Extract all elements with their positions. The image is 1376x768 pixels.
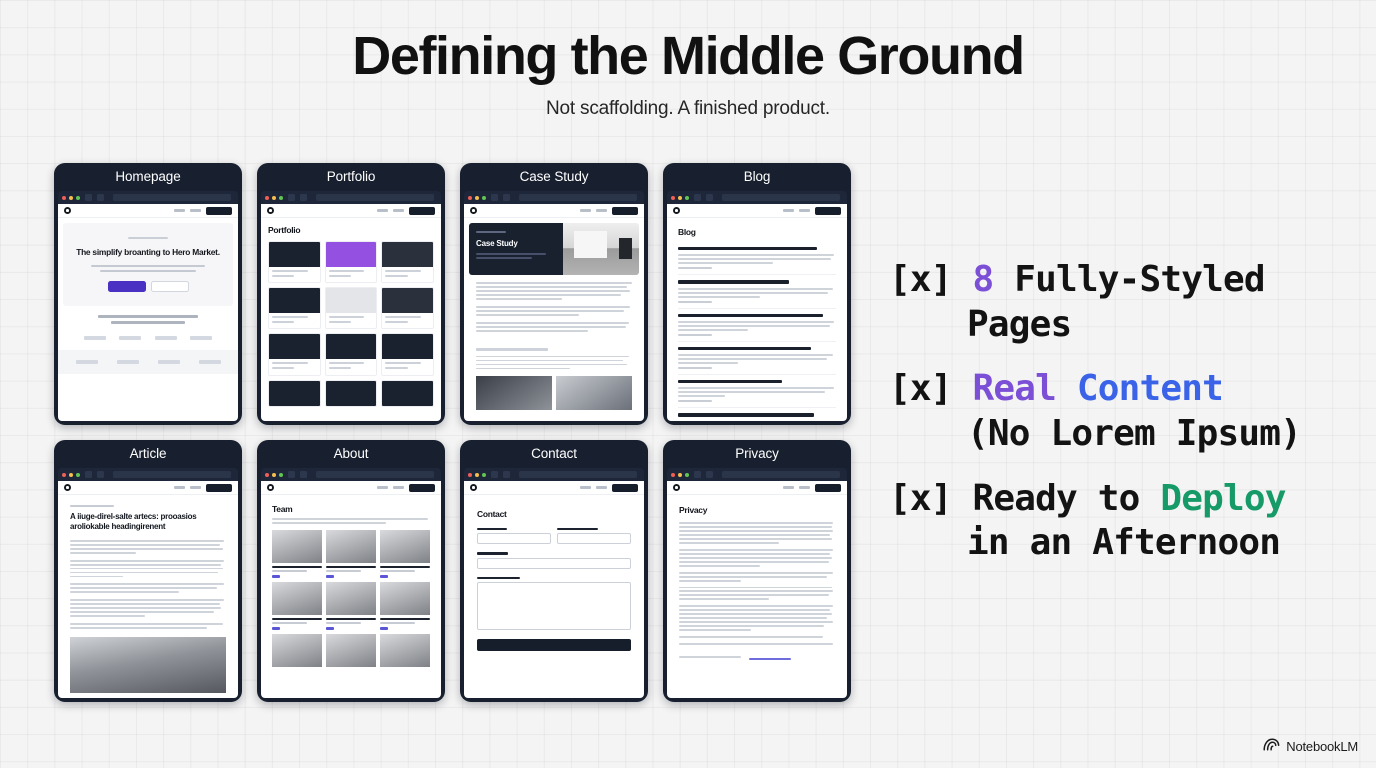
address-bar xyxy=(113,194,231,201)
post-excerpt-line xyxy=(678,329,748,331)
site-nav xyxy=(58,204,238,218)
browser-chrome xyxy=(58,468,238,481)
page-viewport: The simplify broanting to Hero Market. xyxy=(58,204,238,421)
body-line xyxy=(679,590,833,592)
case-study-body xyxy=(464,280,644,410)
post-title-line xyxy=(678,380,782,383)
member-role-line xyxy=(272,570,307,572)
member-role-line xyxy=(326,622,361,624)
body-line xyxy=(679,522,833,524)
portfolio-tile xyxy=(325,287,378,329)
body-line xyxy=(679,656,741,658)
portfolio-body: Portfolio xyxy=(261,218,441,414)
feature-checklist: [x] 8 Fully-Styled Pages [x] Real Conten… xyxy=(889,258,1349,566)
input-last-name[interactable] xyxy=(557,533,631,544)
hero-subtext-line xyxy=(476,253,546,255)
member-role-line xyxy=(326,570,361,572)
tile-thumbnail xyxy=(269,288,320,313)
back-button-icon xyxy=(288,194,295,201)
portfolio-tile xyxy=(381,287,434,329)
blog-post-item xyxy=(678,375,836,408)
member-social-link xyxy=(272,575,280,577)
checklist-text xyxy=(952,259,973,300)
tile-thumbnail xyxy=(382,242,433,267)
tile-meta xyxy=(269,359,320,374)
portfolio-tile xyxy=(268,380,321,407)
card-title: Case Study xyxy=(464,163,644,191)
tile-thumbnail xyxy=(269,381,320,406)
nav-cta-button xyxy=(612,484,638,492)
blog-post-item xyxy=(678,408,836,421)
member-avatar xyxy=(272,530,322,563)
input-email[interactable] xyxy=(477,558,631,569)
team-member xyxy=(272,530,322,578)
maximize-dot-icon xyxy=(482,473,486,477)
tile-thumbnail xyxy=(326,334,377,359)
team-grid xyxy=(272,530,430,667)
address-bar xyxy=(519,194,637,201)
subheading-line xyxy=(476,348,548,351)
privacy-paragraph xyxy=(679,605,835,631)
hero-eyebrow xyxy=(476,231,506,233)
nav-links xyxy=(580,484,638,492)
case-study-hero: Case Study xyxy=(469,223,639,275)
tile-thumbnail xyxy=(326,381,377,406)
body-line xyxy=(476,326,626,328)
page-card-article[interactable]: Article A iiuge-direl-salte artecs: proo… xyxy=(54,440,242,702)
blog-post-item xyxy=(678,309,836,342)
blog-post-item xyxy=(678,275,836,308)
address-bar xyxy=(722,194,840,201)
privacy-paragraph xyxy=(679,643,835,665)
tile-title-line xyxy=(385,362,421,364)
name-row xyxy=(477,528,631,544)
body-line xyxy=(476,368,570,370)
minimize-dot-icon xyxy=(678,196,682,200)
tile-meta xyxy=(382,313,433,328)
body-line xyxy=(679,538,832,540)
body-line xyxy=(476,294,621,296)
privacy-paragraph xyxy=(679,572,835,582)
checklist-item-pages: [x] 8 Fully-Styled Pages xyxy=(889,258,1349,347)
hero-subtext-line xyxy=(91,265,205,267)
article-heading: A iiuge-direl-salte artecs: prooasios ar… xyxy=(70,512,226,533)
member-name-line xyxy=(272,566,322,569)
checklist-space xyxy=(1056,368,1077,409)
page-card-case-study[interactable]: Case Study Case Study xyxy=(460,163,648,425)
body-line xyxy=(679,643,833,645)
forward-button-icon xyxy=(97,194,104,201)
portfolio-tile xyxy=(268,333,321,375)
body-line xyxy=(70,627,207,629)
tile-title-line xyxy=(272,270,308,272)
submit-button[interactable] xyxy=(477,639,631,651)
checklist-line-2: in an Afternoon xyxy=(889,521,1349,566)
real-accent: Real xyxy=(973,368,1057,409)
body-line xyxy=(679,613,832,615)
body-line xyxy=(70,564,221,566)
post-title-line xyxy=(678,247,817,250)
tile-title-line xyxy=(272,362,308,364)
checkbox-icon: [x] xyxy=(889,478,952,519)
body-line xyxy=(70,568,223,570)
team-member xyxy=(380,582,430,630)
member-avatar xyxy=(326,634,376,667)
nav-links xyxy=(783,207,841,215)
forward-button-icon xyxy=(300,471,307,478)
maximize-dot-icon xyxy=(685,196,689,200)
body-line xyxy=(70,552,136,554)
portfolio-heading: Portfolio xyxy=(268,225,434,235)
privacy-heading: Privacy xyxy=(679,505,835,515)
blog-post-item xyxy=(678,342,836,375)
body-line xyxy=(679,636,823,638)
minimize-dot-icon xyxy=(678,473,682,477)
tile-sub-line xyxy=(329,321,351,323)
portfolio-tile xyxy=(325,333,378,375)
close-dot-icon xyxy=(468,473,472,477)
features-section xyxy=(58,311,238,340)
nav-link xyxy=(393,486,404,489)
nav-links xyxy=(783,484,841,492)
body-line xyxy=(679,605,833,607)
hero-secondary-button xyxy=(151,281,189,292)
card-title: Blog xyxy=(667,163,847,191)
body-line xyxy=(70,548,223,550)
body-line xyxy=(679,561,829,563)
body-line xyxy=(679,549,833,551)
minimize-dot-icon xyxy=(475,473,479,477)
nav-links xyxy=(580,207,638,215)
body-line xyxy=(476,356,629,358)
post-excerpt-line xyxy=(678,254,834,256)
portfolio-tile xyxy=(325,380,378,407)
address-bar xyxy=(722,471,840,478)
body-line xyxy=(70,576,123,578)
content-accent: Content xyxy=(1077,368,1223,409)
nav-cta-button xyxy=(409,207,435,215)
member-role-line xyxy=(380,570,415,572)
address-bar xyxy=(316,471,434,478)
card-title: Contact xyxy=(464,440,644,468)
field-label-name xyxy=(477,528,507,530)
nav-link xyxy=(174,209,185,212)
portfolio-tile xyxy=(268,287,321,329)
body-line xyxy=(70,587,217,589)
member-social-link xyxy=(326,627,334,629)
team-member xyxy=(272,582,322,630)
member-name-line xyxy=(380,566,430,569)
nav-link xyxy=(580,486,591,489)
field-group-message xyxy=(477,577,631,630)
privacy-paragraph xyxy=(679,636,835,638)
input-message[interactable] xyxy=(477,582,631,630)
privacy-paragraph xyxy=(679,587,835,601)
member-name-line xyxy=(272,618,322,621)
tile-title-line xyxy=(385,316,421,318)
privacy-body: Privacy xyxy=(667,495,847,680)
member-avatar xyxy=(272,634,322,667)
back-button-icon xyxy=(85,471,92,478)
minimize-dot-icon xyxy=(69,473,73,477)
body-line xyxy=(476,314,579,316)
hero-buttons xyxy=(71,281,225,292)
member-social-link xyxy=(380,575,388,577)
post-excerpt-line xyxy=(678,262,773,264)
hero-primary-button xyxy=(108,281,146,292)
forward-button-icon xyxy=(97,471,104,478)
body-line xyxy=(70,603,220,605)
nav-links xyxy=(174,484,232,492)
tile-thumbnail xyxy=(326,242,377,267)
nav-cta-button xyxy=(815,207,841,215)
back-button-icon xyxy=(288,471,295,478)
nav-cta-button xyxy=(409,484,435,492)
maximize-dot-icon xyxy=(76,473,80,477)
tile-sub-line xyxy=(272,321,294,323)
blog-post-item xyxy=(678,242,836,275)
tile-meta xyxy=(382,267,433,282)
checklist-space xyxy=(952,368,973,409)
browser-chrome xyxy=(261,191,441,204)
tile-sub-line xyxy=(272,367,294,369)
site-logo-icon xyxy=(673,207,680,214)
field-label-last-name xyxy=(557,528,598,530)
minimize-dot-icon xyxy=(475,196,479,200)
nav-link xyxy=(190,209,201,212)
tile-sub-line xyxy=(385,367,407,369)
contact-heading: Contact xyxy=(477,509,631,519)
post-excerpt-line xyxy=(678,391,825,393)
site-nav xyxy=(667,204,847,218)
close-dot-icon xyxy=(62,473,66,477)
minimize-dot-icon xyxy=(69,196,73,200)
forward-button-icon xyxy=(503,194,510,201)
member-avatar xyxy=(326,530,376,563)
member-name-line xyxy=(326,618,376,621)
page-card-about[interactable]: About Team xyxy=(257,440,445,702)
article-image xyxy=(70,637,226,693)
body-line xyxy=(679,629,751,631)
tile-sub-line xyxy=(329,275,351,277)
page-viewport: Privacy xyxy=(667,481,847,698)
site-logo-icon xyxy=(673,484,680,491)
portfolio-tile xyxy=(381,333,434,375)
nav-cta-button xyxy=(612,207,638,215)
deploy-accent: Deploy xyxy=(1160,478,1285,519)
checklist-item-deploy: [x] Ready to Deploy in an Afternoon xyxy=(889,477,1349,566)
tile-thumbnail xyxy=(269,242,320,267)
post-date xyxy=(678,367,712,369)
team-member xyxy=(272,634,322,667)
body-line xyxy=(679,580,741,582)
tile-meta xyxy=(269,267,320,282)
body-line xyxy=(679,617,827,619)
post-excerpt-line xyxy=(678,354,833,356)
nav-link xyxy=(783,209,794,212)
nav-link xyxy=(377,209,388,212)
card-title: About xyxy=(261,440,441,468)
nav-link xyxy=(799,486,810,489)
portfolio-tile xyxy=(268,241,321,283)
logo-placeholder xyxy=(190,336,212,340)
nav-cta-button xyxy=(815,484,841,492)
body-line xyxy=(70,591,179,593)
body-line xyxy=(272,522,386,524)
nav-link xyxy=(580,209,591,212)
page-viewport: A iiuge-direl-salte artecs: prooasios ar… xyxy=(58,481,238,698)
nav-links xyxy=(174,207,232,215)
checklist-text: Fully-Styled xyxy=(993,259,1264,300)
body-line xyxy=(679,609,830,611)
case-study-subheading xyxy=(476,339,632,345)
body-line xyxy=(476,330,588,332)
checklist-line-1: [x] Real Content xyxy=(889,367,1349,412)
body-line xyxy=(70,544,220,546)
body-line xyxy=(476,306,630,308)
hero-photo xyxy=(563,223,639,275)
post-excerpt-line xyxy=(678,387,834,389)
post-excerpt-line xyxy=(678,325,830,327)
body-line xyxy=(70,607,221,609)
team-heading: Team xyxy=(272,504,430,514)
post-excerpt-line xyxy=(678,296,760,298)
browser-chrome xyxy=(464,468,644,481)
page-card-portfolio[interactable]: Portfolio Portfolio xyxy=(257,163,445,425)
logo-placeholder xyxy=(84,336,106,340)
hero-eyebrow xyxy=(128,237,168,239)
hero-subtext-line xyxy=(476,257,532,259)
slide-header: Defining the Middle Ground Not scaffoldi… xyxy=(0,0,1376,120)
body-line xyxy=(70,615,145,617)
address-bar xyxy=(519,471,637,478)
page-subtitle: Not scaffolding. A finished product. xyxy=(0,98,1376,120)
post-excerpt-line xyxy=(678,362,738,364)
body-line xyxy=(70,583,224,585)
page-viewport: Case Study xyxy=(464,204,644,421)
nav-links xyxy=(377,207,435,215)
post-title-line xyxy=(678,347,811,350)
notebooklm-watermark: NotebookLM xyxy=(1263,738,1358,754)
body-line xyxy=(476,282,632,284)
hero-subtext-line xyxy=(100,270,195,272)
body-line xyxy=(679,625,824,627)
body-line xyxy=(679,557,832,559)
checkbox-icon: [x] xyxy=(889,259,952,300)
maximize-dot-icon xyxy=(685,473,689,477)
tile-title-line xyxy=(329,362,365,364)
field-label-message xyxy=(477,577,520,579)
site-logo-icon xyxy=(470,484,477,491)
tile-title-line xyxy=(329,316,365,318)
body-line xyxy=(70,599,224,601)
team-member xyxy=(326,634,376,667)
section-heading-line xyxy=(98,315,198,318)
site-logo-icon xyxy=(470,207,477,214)
member-avatar xyxy=(380,530,430,563)
body-line xyxy=(476,364,627,366)
post-excerpt-line xyxy=(678,358,827,360)
tile-sub-line xyxy=(272,275,294,277)
body-line xyxy=(679,542,779,544)
body-line xyxy=(679,526,832,528)
member-name-line xyxy=(326,566,376,569)
post-title-line xyxy=(678,280,789,283)
body-line xyxy=(679,565,760,567)
nav-link xyxy=(596,209,607,212)
nav-link xyxy=(799,209,810,212)
post-date xyxy=(678,301,712,303)
member-avatar xyxy=(326,582,376,615)
input-name[interactable] xyxy=(477,533,551,544)
body-line xyxy=(476,298,562,300)
nav-link xyxy=(190,486,201,489)
member-name-line xyxy=(380,618,430,621)
body-line xyxy=(679,572,833,574)
site-nav xyxy=(667,481,847,495)
body-line xyxy=(70,623,223,625)
back-button-icon xyxy=(694,194,701,201)
team-body: Team xyxy=(261,495,441,676)
footer-item xyxy=(76,360,98,364)
tile-thumbnail xyxy=(382,288,433,313)
case-study-image xyxy=(556,376,632,410)
body-line xyxy=(476,322,629,324)
card-title: Homepage xyxy=(58,163,238,191)
body-line xyxy=(679,594,829,596)
page-card-contact[interactable]: Contact Contact xyxy=(460,440,648,702)
nav-cta-button xyxy=(206,484,232,492)
post-excerpt-line xyxy=(678,395,725,397)
body-line xyxy=(476,286,627,288)
checklist-line-2: Pages xyxy=(889,303,1349,348)
footer-item xyxy=(158,360,180,364)
section-heading-line xyxy=(111,321,186,324)
page-viewport: Contact xyxy=(464,481,644,698)
page-card-blog[interactable]: Blog Blog xyxy=(663,163,851,425)
logo-placeholder xyxy=(119,336,141,340)
browser-chrome xyxy=(667,468,847,481)
tile-thumbnail xyxy=(326,288,377,313)
portfolio-grid xyxy=(268,241,434,407)
member-social-link xyxy=(380,627,388,629)
card-title: Portfolio xyxy=(261,163,441,191)
footer-item xyxy=(117,360,139,364)
privacy-policy-link[interactable] xyxy=(749,658,791,660)
back-button-icon xyxy=(491,194,498,201)
tile-meta xyxy=(326,313,377,328)
contact-body: Contact xyxy=(464,495,644,665)
back-button-icon xyxy=(491,471,498,478)
tile-meta xyxy=(326,359,377,374)
site-nav xyxy=(464,481,644,495)
site-logo-icon xyxy=(64,207,71,214)
tile-thumbnail xyxy=(382,381,433,406)
portfolio-tile xyxy=(381,241,434,283)
page-card-homepage[interactable]: Homepage The simplify broanting to Hero … xyxy=(54,163,242,425)
team-intro xyxy=(272,518,430,524)
forward-button-icon xyxy=(503,471,510,478)
post-date xyxy=(678,400,712,402)
site-nav xyxy=(261,481,441,495)
body-line xyxy=(70,611,214,613)
close-dot-icon xyxy=(468,196,472,200)
hero-heading: The simplify broanting to Hero Market. xyxy=(71,247,225,258)
logo-placeholder xyxy=(155,336,177,340)
page-title: Defining the Middle Ground xyxy=(0,28,1376,85)
page-card-privacy[interactable]: Privacy Privacy xyxy=(663,440,851,702)
case-study-images xyxy=(476,376,632,410)
